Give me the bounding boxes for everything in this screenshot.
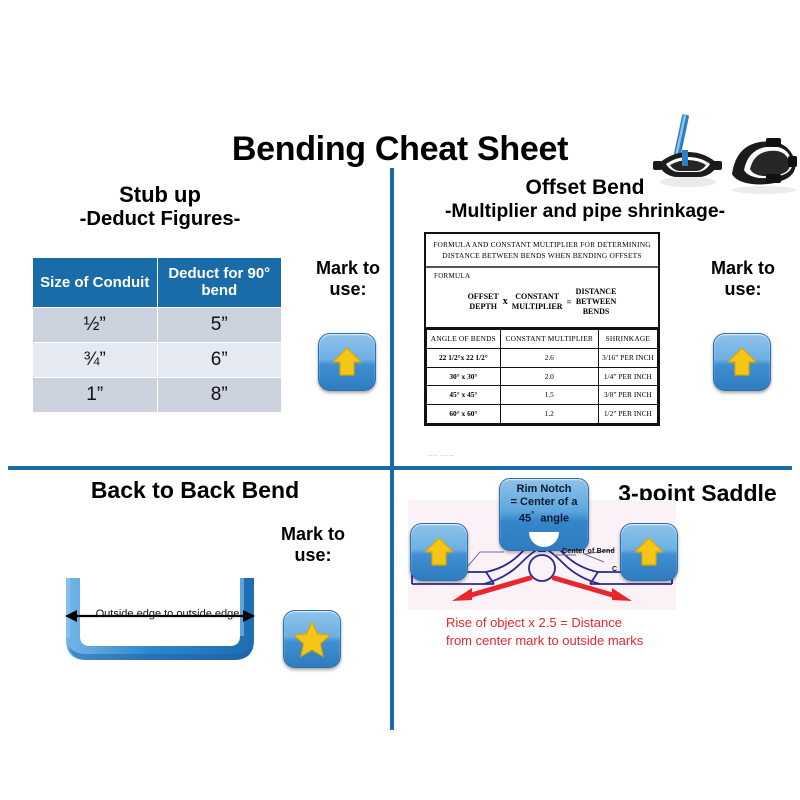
cell-multiplier: 1.5 [500,386,598,405]
cell-size: ½” [33,307,158,342]
cell-size: 1” [33,377,158,412]
cell-angle: 45° x 45° [427,386,501,405]
cell-deduct: 5” [157,307,282,342]
saddle-formula-note: Rise of object x 2.5 = Distance from cen… [446,614,643,649]
divider-vertical-top [390,168,394,468]
up-arrow-icon [724,344,760,380]
column-header-multiplier: CONSTANT MULTIPLIER [500,330,598,349]
offset-mark-to-use-label: Mark to use: [698,258,788,299]
table-row: 30° x 30° 2.0 1/4” PER INCH [427,367,658,386]
back-to-back-mark-to-use-label: Mark to use: [268,524,358,565]
table-row: 45° x 45° 1.5 3/8” PER INCH [427,386,658,405]
formula-constant-word: CONSTANT [512,292,563,302]
cell-angle: 60° x 60° [427,404,501,423]
saddle-left-arrow-button[interactable] [410,523,468,581]
table-row: ½” 5” [33,307,282,342]
cell-shrinkage: 3/8” PER INCH [598,386,657,405]
divider-horizontal [8,466,792,470]
table-row: 60° x 60° 1.2 1/2” PER INCH [427,404,658,423]
deduct-figures-table: Size of Conduit Deduct for 90° bend ½” 5… [32,257,282,413]
cell-multiplier: 2.0 [500,367,598,386]
stub-up-title: Stub up [119,182,201,207]
formula-result-line-1: DISTANCE [576,287,617,297]
formula-equals-sign: = [567,297,572,307]
back-to-back-heading: Back to Back Bend [30,477,360,504]
cell-shrinkage: 1/2” PER INCH [598,404,657,423]
center-of-bend-label: Center of Bend [562,548,615,555]
saddle-right-arrow-button[interactable] [620,523,678,581]
rim-notch-angle-value: 45 [519,512,531,524]
rim-notch-callout: Rim Notch = Center of a 45° angle [499,478,589,551]
stub-up-subtitle: -Deduct Figures- [20,208,300,232]
formula-offset-word: OFFSET [468,292,499,302]
table-header-row: ANGLE OF BENDS CONSTANT MULTIPLIER SHRIN… [427,330,658,349]
up-arrow-icon [421,534,457,570]
offset-bend-subtitle: -Multiplier and pipe shrinkage- [415,201,755,224]
offset-data-table: ANGLE OF BENDS CONSTANT MULTIPLIER SHRIN… [426,329,658,423]
formula-operator: x [503,296,508,307]
formula-multiplier-word: MULTIPLIER [512,302,563,312]
cell-size: ¾” [33,342,158,377]
offset-bend-title: Offset Bend [525,176,644,199]
saddle-note-line-1: Rise of object x 2.5 = Distance [446,614,643,632]
stub-up-heading: Stub up -Deduct Figures- [20,182,300,232]
cell-multiplier: 1.2 [500,404,598,423]
back-to-back-pipe-diagram [62,578,258,668]
stub-up-arrow-button[interactable] [318,333,376,391]
cell-shrinkage: 3/16” PER INCH [598,349,657,368]
stub-mark-to-use-label: Mark to use: [303,258,393,299]
center-partial-label: C [612,566,617,573]
offset-formula-left-fraction: OFFSET DEPTH [468,292,499,312]
cell-shrinkage: 1/4” PER INCH [598,367,657,386]
rim-notch-line-3: 45° angle [500,510,588,526]
rim-notch-angle-word: angle [540,512,569,524]
offset-multiplier-chart: FORMULA AND CONSTANT MULTIPLIER FOR DETE… [424,232,660,426]
up-arrow-icon [329,344,365,380]
column-header-deduct: Deduct for 90° bend [157,258,282,308]
back-to-back-dimension-label: Outside edge to outside edge [80,608,255,620]
saddle-note-line-2: from center mark to outside marks [446,632,643,650]
divider-vertical-bottom [390,470,394,730]
rim-notch-line-2: = Center of a [500,496,588,509]
offset-formula-result: DISTANCE BETWEEN BENDS [576,287,617,316]
offset-formula-label: FORMULA [434,272,650,280]
offset-up-arrow-button[interactable] [713,333,771,391]
offset-chart-title: FORMULA AND CONSTANT MULTIPLIER FOR DETE… [426,234,658,268]
formula-result-line-3: BENDS [576,307,617,317]
column-header-size: Size of Conduit [33,258,158,308]
up-arrow-icon [631,534,667,570]
offset-formula-right-fraction: CONSTANT MULTIPLIER [512,292,563,312]
offset-chart-footnote: —— ——— [428,452,455,457]
formula-result-line-2: BETWEEN [576,297,617,307]
back-to-back-star-button[interactable] [283,610,341,668]
cell-multiplier: 2.6 [500,349,598,368]
cell-angle: 30° x 30° [427,367,501,386]
formula-depth-word: DEPTH [468,302,499,312]
degree-icon: ° [531,510,534,519]
cell-angle: 22 1/2°x 22 1/2° [427,349,501,368]
star-icon [292,619,332,659]
offset-formula-block: FORMULA OFFSET DEPTH x CONSTANT MULTIPLI… [426,268,658,329]
column-header-shrinkage: SHRINKAGE [598,330,657,349]
column-header-angle: ANGLE OF BENDS [427,330,501,349]
cell-deduct: 6” [157,342,282,377]
table-row: ¾” 6” [33,342,282,377]
table-row: 22 1/2°x 22 1/2° 2.6 3/16” PER INCH [427,349,658,368]
table-row: 1” 8” [33,377,282,412]
offset-bend-heading: Offset Bend -Multiplier and pipe shrinka… [415,176,755,224]
rim-notch-line-1: Rim Notch [500,483,588,496]
table-header-row: Size of Conduit Deduct for 90° bend [33,258,282,308]
cell-deduct: 8” [157,377,282,412]
rim-notch-cutout-icon [529,532,559,547]
